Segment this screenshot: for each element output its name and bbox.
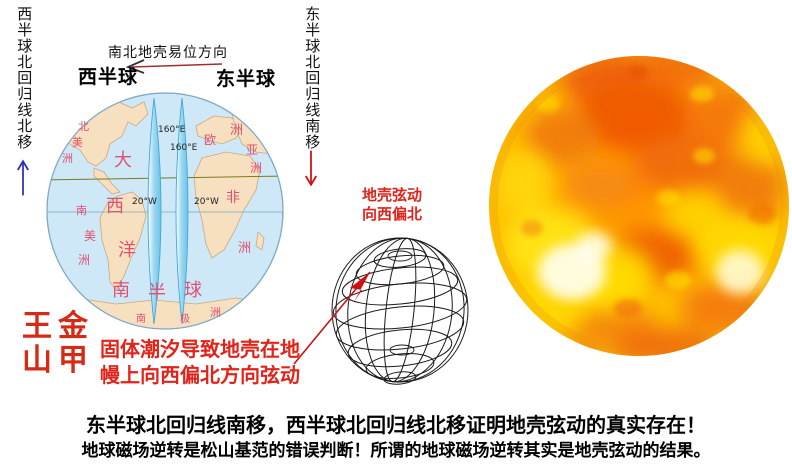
solid-tide-line-1: 固体潮汐导致地壳在地 [100, 336, 300, 362]
caption-line-1: 东半球北回归线南移，西半球北回归线北移证明地壳弦动的真实存在！ [0, 412, 792, 439]
svg-text:非: 非 [226, 190, 240, 206]
svg-text:南: 南 [76, 204, 87, 217]
crust-vibration-line-2: 向西偏北 [362, 205, 422, 224]
arrow-pointer-icon [292, 258, 402, 368]
svg-text:洲: 洲 [62, 152, 73, 165]
arrow-up-icon [16, 156, 30, 198]
svg-text:半: 半 [148, 282, 166, 303]
seal-char-3: 山 [22, 346, 52, 376]
artist-seal: 王 金 山 甲 [22, 312, 96, 386]
left-vertical-label: 西半球北回归线北移 [16, 6, 31, 150]
svg-text:洋: 洋 [118, 240, 136, 261]
svg-text:洲: 洲 [78, 253, 90, 267]
svg-text:美: 美 [84, 229, 96, 243]
seal-char-4: 甲 [58, 346, 88, 376]
svg-text:极: 极 [180, 312, 190, 325]
svg-text:20°W: 20°W [132, 197, 157, 207]
svg-text:洲: 洲 [230, 123, 243, 138]
poster-canvas: 西半球北回归线北移 东半球北回归线南移 南北地壳易位方向 西半球 东半球 [0, 0, 792, 468]
svg-text:北: 北 [78, 120, 89, 133]
east-hemisphere-label: 东半球 [216, 64, 276, 91]
svg-text:南: 南 [112, 280, 130, 301]
heatmap-sphere-image [488, 8, 790, 404]
svg-text:欧: 欧 [204, 133, 216, 147]
caption-block: 东半球北回归线南移，西半球北回归线北移证明地壳弦动的真实存在！ 地球磁场逆转是松… [0, 412, 792, 463]
caption-line-2: 地球磁场逆转是松山基范的错误判断！所谓的地球磁场逆转其实是地壳弦动的结果。 [0, 439, 792, 463]
svg-text:球: 球 [184, 280, 202, 301]
crust-vibration-line-1: 地壳弦动 [362, 186, 422, 205]
crust-vibration-label: 地壳弦动 向西偏北 [362, 186, 422, 224]
solid-tide-statement: 固体潮汐导致地壳在地 幔上向西偏北方向弦动 [100, 336, 300, 388]
arrow-down-icon [304, 148, 318, 190]
svg-text:160°E: 160°E [158, 125, 186, 135]
svg-text:亚: 亚 [246, 143, 258, 157]
svg-text:洲: 洲 [210, 306, 221, 319]
svg-text:美: 美 [72, 136, 83, 149]
right-vertical-label: 东半球北回归线南移 [304, 6, 319, 150]
seal-char-1: 王 [22, 312, 52, 342]
svg-text:洲: 洲 [250, 161, 262, 175]
west-hemisphere-label: 西半球 [78, 62, 138, 89]
seal-char-2: 金 [58, 312, 88, 342]
svg-text:南: 南 [136, 312, 146, 325]
solid-tide-line-2: 幔上向西偏北方向弦动 [100, 362, 300, 388]
world-globe-diagram: 160°E 160°E 20°W 20°W 北 美 洲 大 西 南 美 洲 洋 … [36, 92, 294, 330]
svg-text:20°W: 20°W [194, 197, 219, 207]
svg-text:洲: 洲 [238, 241, 251, 256]
svg-text:大: 大 [114, 150, 132, 171]
svg-text:西: 西 [106, 196, 124, 217]
svg-text:160°E: 160°E [170, 143, 198, 153]
